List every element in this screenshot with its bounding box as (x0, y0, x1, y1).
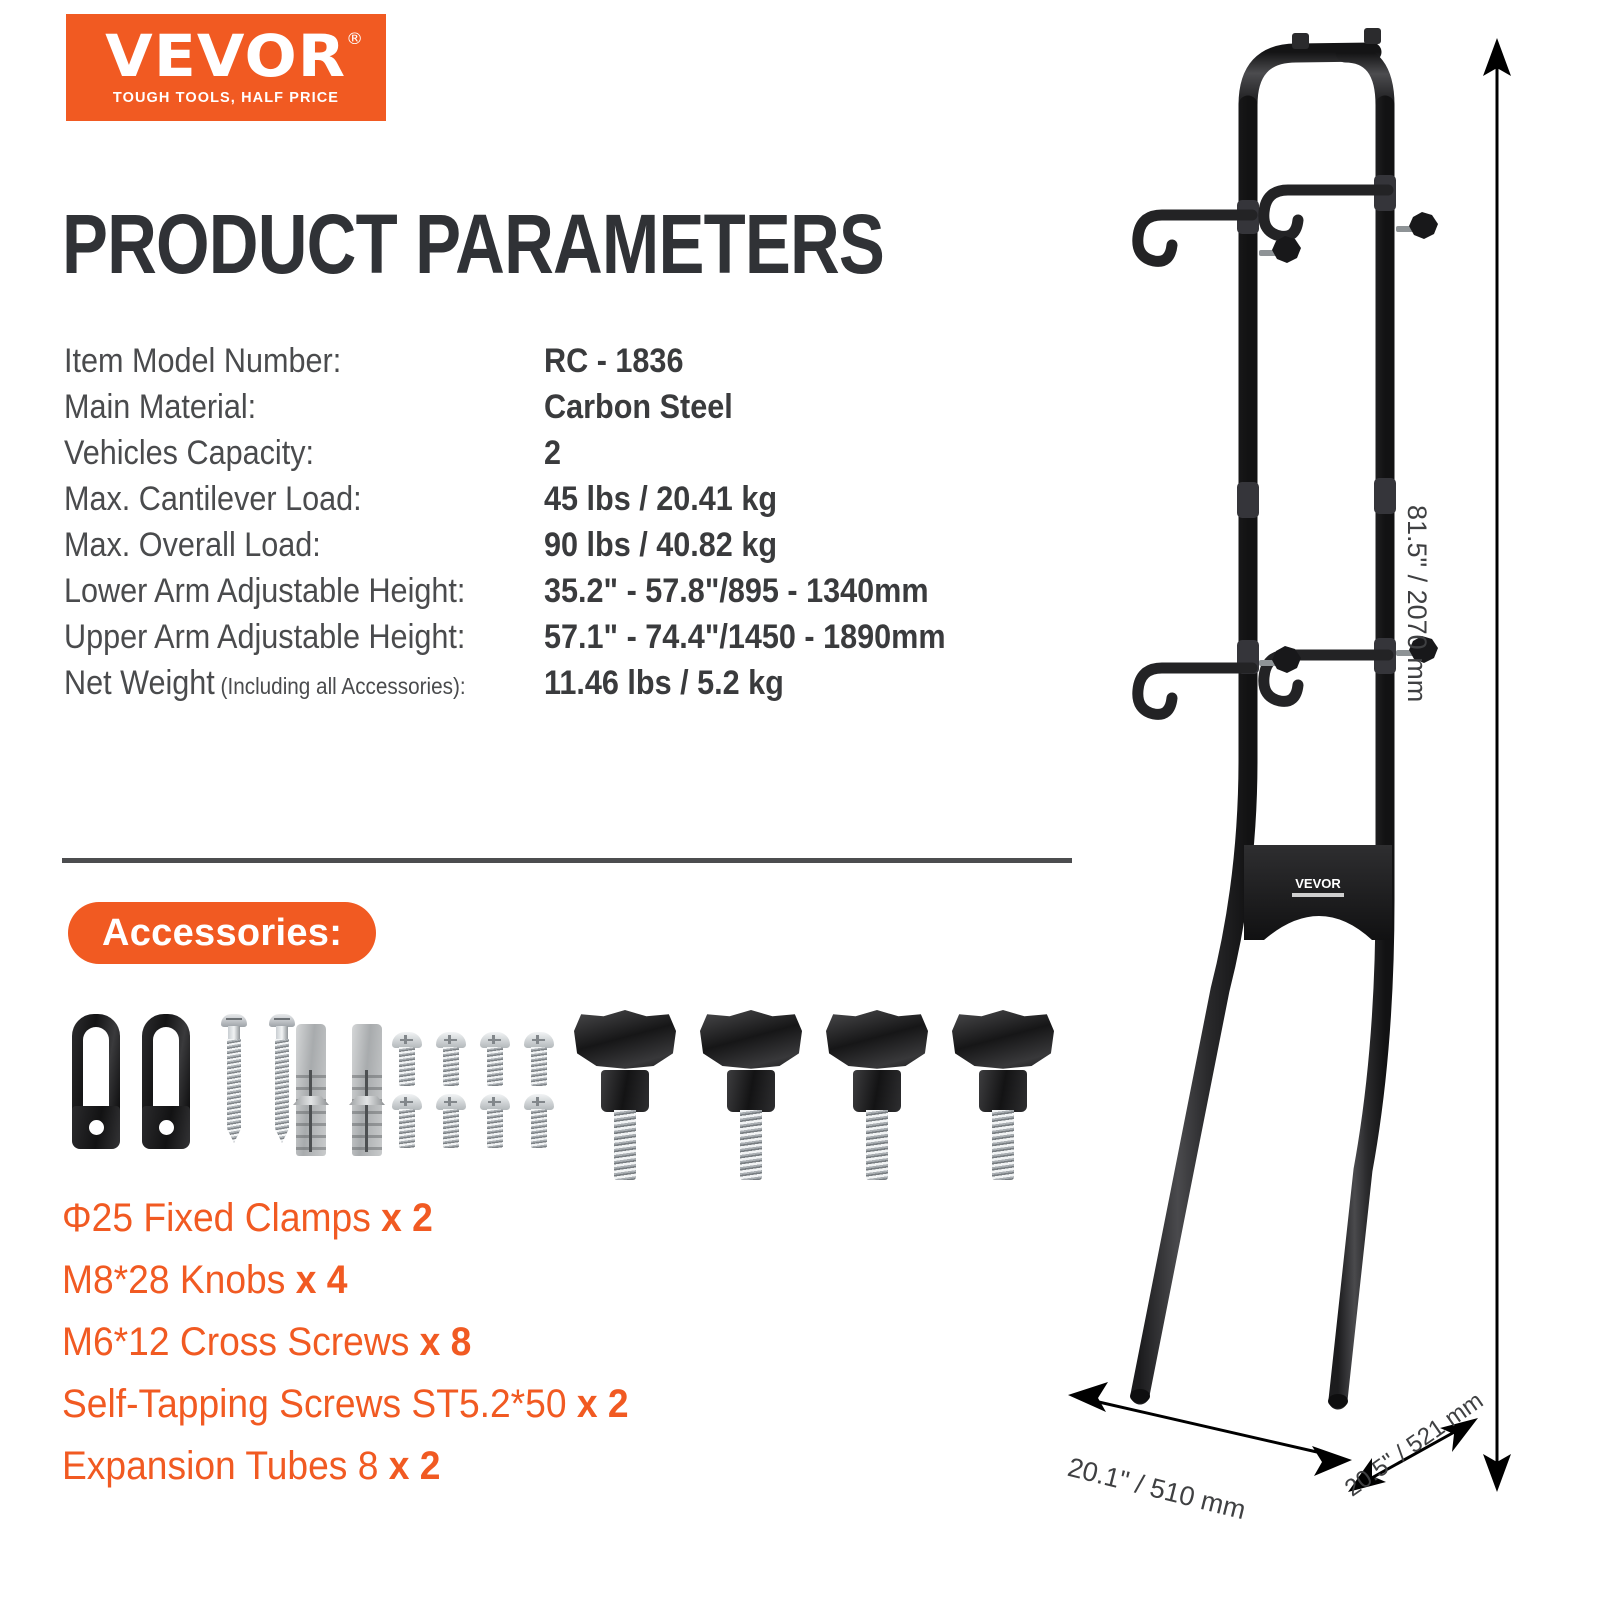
spec-label: Lower Arm Adjustable Height: (64, 572, 496, 611)
accessory-item: Expansion Tubes 8 x 2 (62, 1444, 862, 1506)
spec-table: Item Model Number: RC - 1836 Main Materi… (64, 342, 1134, 710)
spec-value: 11.46 lbs / 5.2 kg (544, 664, 784, 703)
spec-label: Main Material: (64, 388, 496, 427)
accessory-item: Self-Tapping Screws ST5.2*50 x 2 (62, 1382, 862, 1444)
spec-label-main: Net Weight (64, 664, 215, 702)
spec-label: Max. Cantilever Load: (64, 480, 496, 519)
spec-label: Upper Arm Adjustable Height: (64, 618, 496, 657)
spec-row: Vehicles Capacity: 2 (64, 434, 1134, 480)
accessory-name: Φ25 Fixed Clamps (62, 1196, 371, 1240)
accessory-qty: x 8 (420, 1320, 472, 1364)
cross-screw-part (524, 1032, 554, 1088)
product-vevor-badge: VEVOR (1295, 876, 1341, 891)
spec-label: Item Model Number: (64, 342, 496, 381)
accessory-item: Φ25 Fixed Clamps x 2 (62, 1196, 862, 1258)
spec-label: Vehicles Capacity: (64, 434, 496, 473)
spec-label: Net Weight (Including all Accessories): (64, 664, 496, 703)
spec-row: Lower Arm Adjustable Height: 35.2" - 57.… (64, 572, 1134, 618)
accessories-parts-strip (64, 1002, 1064, 1162)
accessory-qty: x 2 (389, 1444, 441, 1488)
accessory-item: M8*28 Knobs x 4 (62, 1258, 862, 1320)
spec-label: Max. Overall Load: (64, 526, 496, 565)
vevor-tagline: TOUGH TOOLS, HALF PRICE (113, 90, 339, 106)
accessories-badge-label: Accessories: (102, 912, 342, 955)
fixed-clamp-part (142, 1014, 190, 1149)
cross-screw-part (480, 1094, 510, 1150)
spec-value: 45 lbs / 20.41 kg (544, 480, 777, 519)
cross-screw-part (392, 1032, 422, 1088)
spec-row: Upper Arm Adjustable Height: 57.1" - 74.… (64, 618, 1134, 664)
product-image-bike-rack: VEVOR (1020, 0, 1540, 1490)
accessories-list: Φ25 Fixed Clamps x 2 M8*28 Knobs x 4 M6*… (62, 1196, 922, 1506)
vevor-wordmark: VEVOR ® (106, 29, 347, 84)
spec-value: 2 (544, 434, 561, 473)
cross-screw-part (436, 1032, 466, 1088)
spec-value: 57.1" - 74.4"/1450 - 1890mm (544, 618, 946, 657)
spec-row: Main Material: Carbon Steel (64, 388, 1134, 434)
vevor-logo: VEVOR ® TOUGH TOOLS, HALF PRICE (66, 14, 386, 121)
spec-value: 35.2" - 57.8"/895 - 1340mm (544, 572, 929, 611)
spec-value: RC - 1836 (544, 342, 683, 381)
expansion-tube-part (352, 1024, 382, 1156)
accessory-qty: x 2 (381, 1196, 433, 1240)
spec-row: Net Weight (Including all Accessories): … (64, 664, 1134, 710)
knob-part (574, 1010, 676, 1180)
accessory-name: Expansion Tubes 8 (62, 1444, 378, 1488)
cross-screw-part (392, 1094, 422, 1150)
dimension-height-label: 81.5" / 2070 mm (1401, 505, 1432, 702)
cross-screw-part (436, 1094, 466, 1150)
expansion-tube-part (296, 1024, 326, 1156)
knob-part (700, 1010, 802, 1180)
knob-part (826, 1010, 928, 1180)
registered-trademark-icon: ® (346, 31, 364, 46)
spec-row: Max. Overall Load: 90 lbs / 40.82 kg (64, 526, 1134, 572)
page-title: PRODUCT PARAMETERS (62, 196, 884, 293)
cross-screw-part (480, 1032, 510, 1088)
accessory-name: M8*28 Knobs (62, 1258, 285, 1302)
section-divider (62, 858, 1072, 863)
cross-screw-part (524, 1094, 554, 1150)
spec-label-note: (Including all Accessories): (215, 673, 466, 699)
accessory-qty: x 2 (577, 1382, 629, 1426)
spec-row: Item Model Number: RC - 1836 (64, 342, 1134, 388)
self-tapping-screw-part (221, 1014, 247, 1150)
accessory-name: M6*12 Cross Screws (62, 1320, 409, 1364)
accessory-item: M6*12 Cross Screws x 8 (62, 1320, 862, 1382)
spec-value: 90 lbs / 40.82 kg (544, 526, 777, 565)
accessory-name: Self-Tapping Screws ST5.2*50 (62, 1382, 567, 1426)
accessories-badge: Accessories: (68, 902, 376, 964)
vevor-wordmark-text: VEVOR (106, 22, 347, 90)
spec-value: Carbon Steel (544, 388, 733, 427)
self-tapping-screw-part (269, 1014, 295, 1150)
accessory-qty: x 4 (296, 1258, 348, 1302)
fixed-clamp-part (72, 1014, 120, 1149)
spec-row: Max. Cantilever Load: 45 lbs / 20.41 kg (64, 480, 1134, 526)
